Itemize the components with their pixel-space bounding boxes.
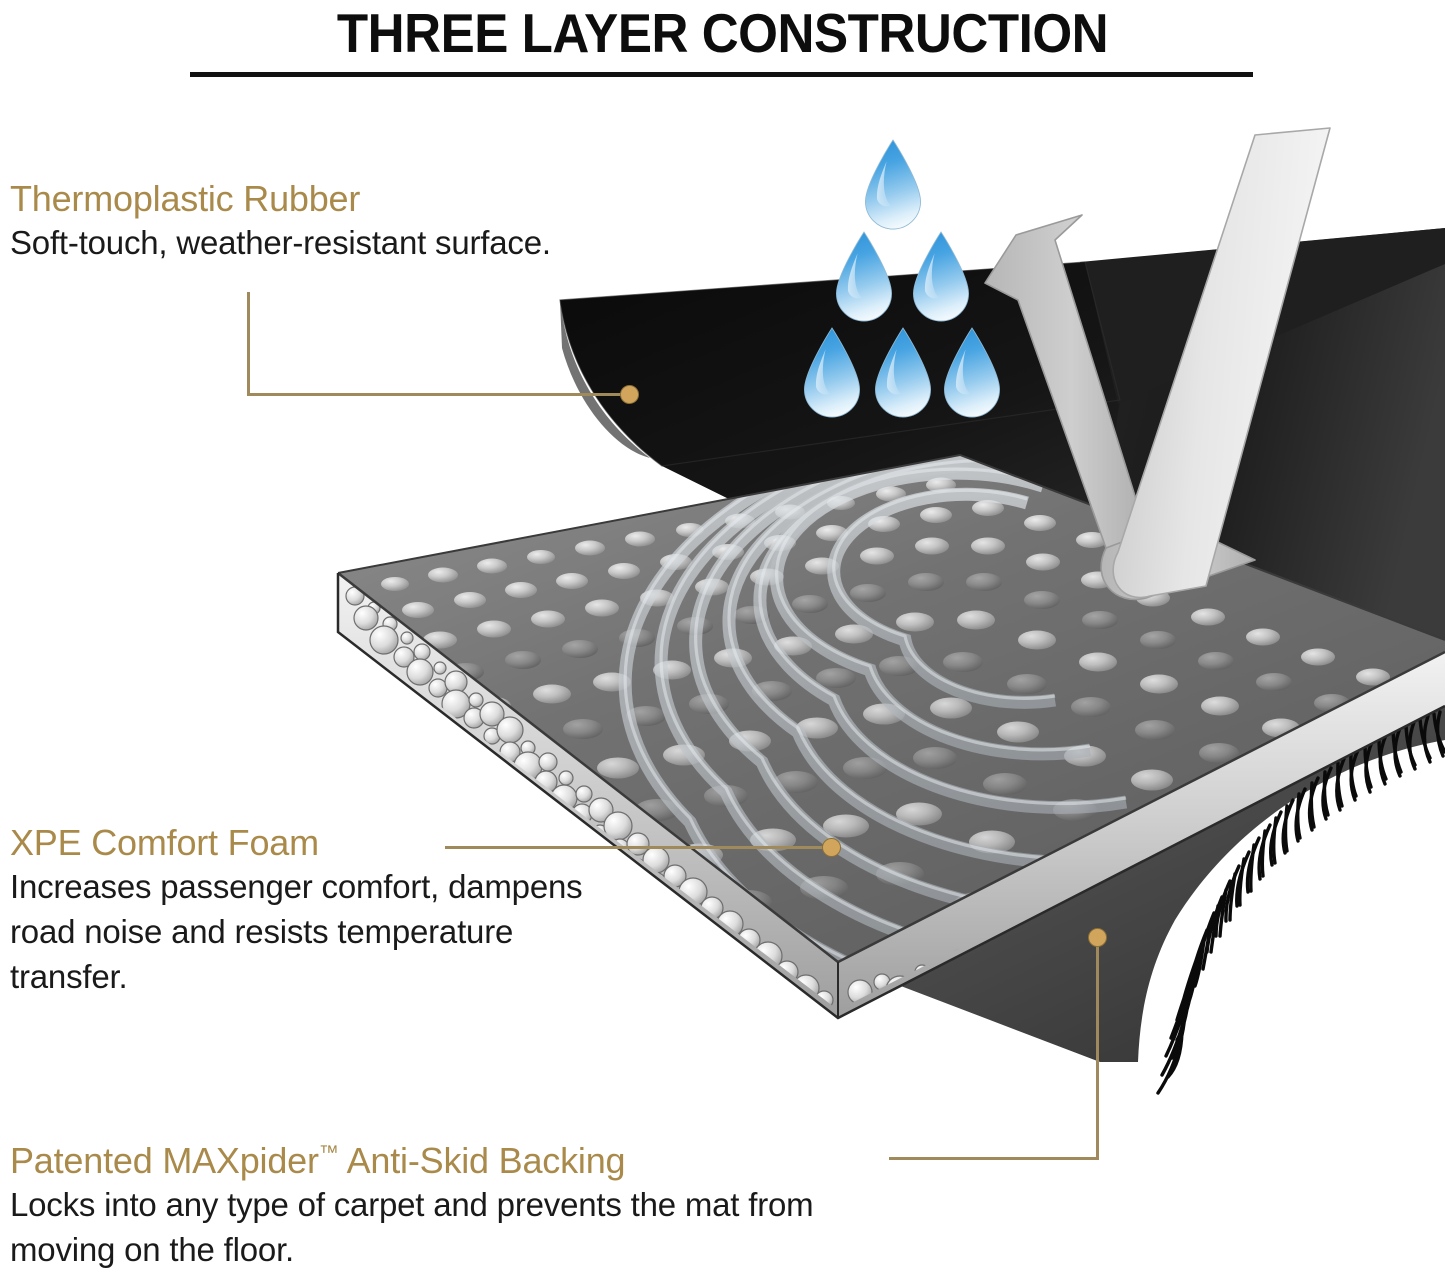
sound-wave-arcs-highlight xyxy=(625,407,1270,1019)
callout-xpe-comfort-foam: XPE Comfort Foam Increases passenger com… xyxy=(10,822,630,999)
callout-maxpider-backing: Patented MAXpider™ Anti-Skid Backing Loc… xyxy=(10,1132,910,1272)
callout-dot-foam xyxy=(822,838,841,857)
page-title-block: THREE LAYER CONSTRUCTION xyxy=(190,2,1255,64)
water-droplet xyxy=(875,328,930,417)
page-title: THREE LAYER CONSTRUCTION xyxy=(227,2,1217,64)
callout-heading-backing: Patented MAXpider™ Anti-Skid Backing xyxy=(10,1132,910,1182)
callout-heading-rubber: Thermoplastic Rubber xyxy=(10,178,710,220)
callout-heading-backing-tail: Anti-Skid Backing xyxy=(339,1140,626,1181)
callout-body-rubber: Soft-touch, weather-resistant surface. xyxy=(10,220,710,265)
callout-heading-backing-text: Patented MAXpider xyxy=(10,1140,319,1181)
callout-body-foam: Increases passenger comfort, dampens roa… xyxy=(10,864,630,999)
callout-heading-rubber-text: Thermoplastic Rubber xyxy=(10,178,360,219)
leader-line-backing-horizontal xyxy=(889,1157,1099,1160)
callout-body-backing: Locks into any type of carpet and preven… xyxy=(10,1182,910,1272)
callout-dot-backing xyxy=(1088,928,1107,947)
water-droplet xyxy=(944,328,999,417)
leader-line-rubber-horizontal xyxy=(247,393,637,396)
title-divider xyxy=(190,72,1253,77)
water-droplet xyxy=(836,232,891,321)
callout-heading-foam-text: XPE Comfort Foam xyxy=(10,822,319,863)
water-droplet xyxy=(913,232,968,321)
bottom-backing-layer xyxy=(838,700,1445,1093)
leader-line-backing-vertical xyxy=(1096,946,1099,1160)
callout-heading-foam: XPE Comfort Foam xyxy=(10,822,630,864)
leader-line-rubber-vertical xyxy=(247,292,250,396)
water-droplet xyxy=(865,140,920,229)
anti-skid-fibers xyxy=(1158,712,1445,1093)
callout-dot-rubber xyxy=(620,385,639,404)
top-rubber-layer xyxy=(560,228,1445,700)
trademark-symbol: ™ xyxy=(319,1142,339,1164)
infographic-root: THREE LAYER CONSTRUCTION Thermoplastic R… xyxy=(0,0,1445,1287)
callout-thermoplastic-rubber: Thermoplastic Rubber Soft-touch, weather… xyxy=(10,178,710,265)
water-droplet xyxy=(804,328,859,417)
foam-bubble-cells-right xyxy=(848,783,1445,1004)
water-droplets xyxy=(804,140,999,417)
sound-wave-arcs xyxy=(625,411,1270,1023)
water-repel-arrow xyxy=(985,128,1330,599)
